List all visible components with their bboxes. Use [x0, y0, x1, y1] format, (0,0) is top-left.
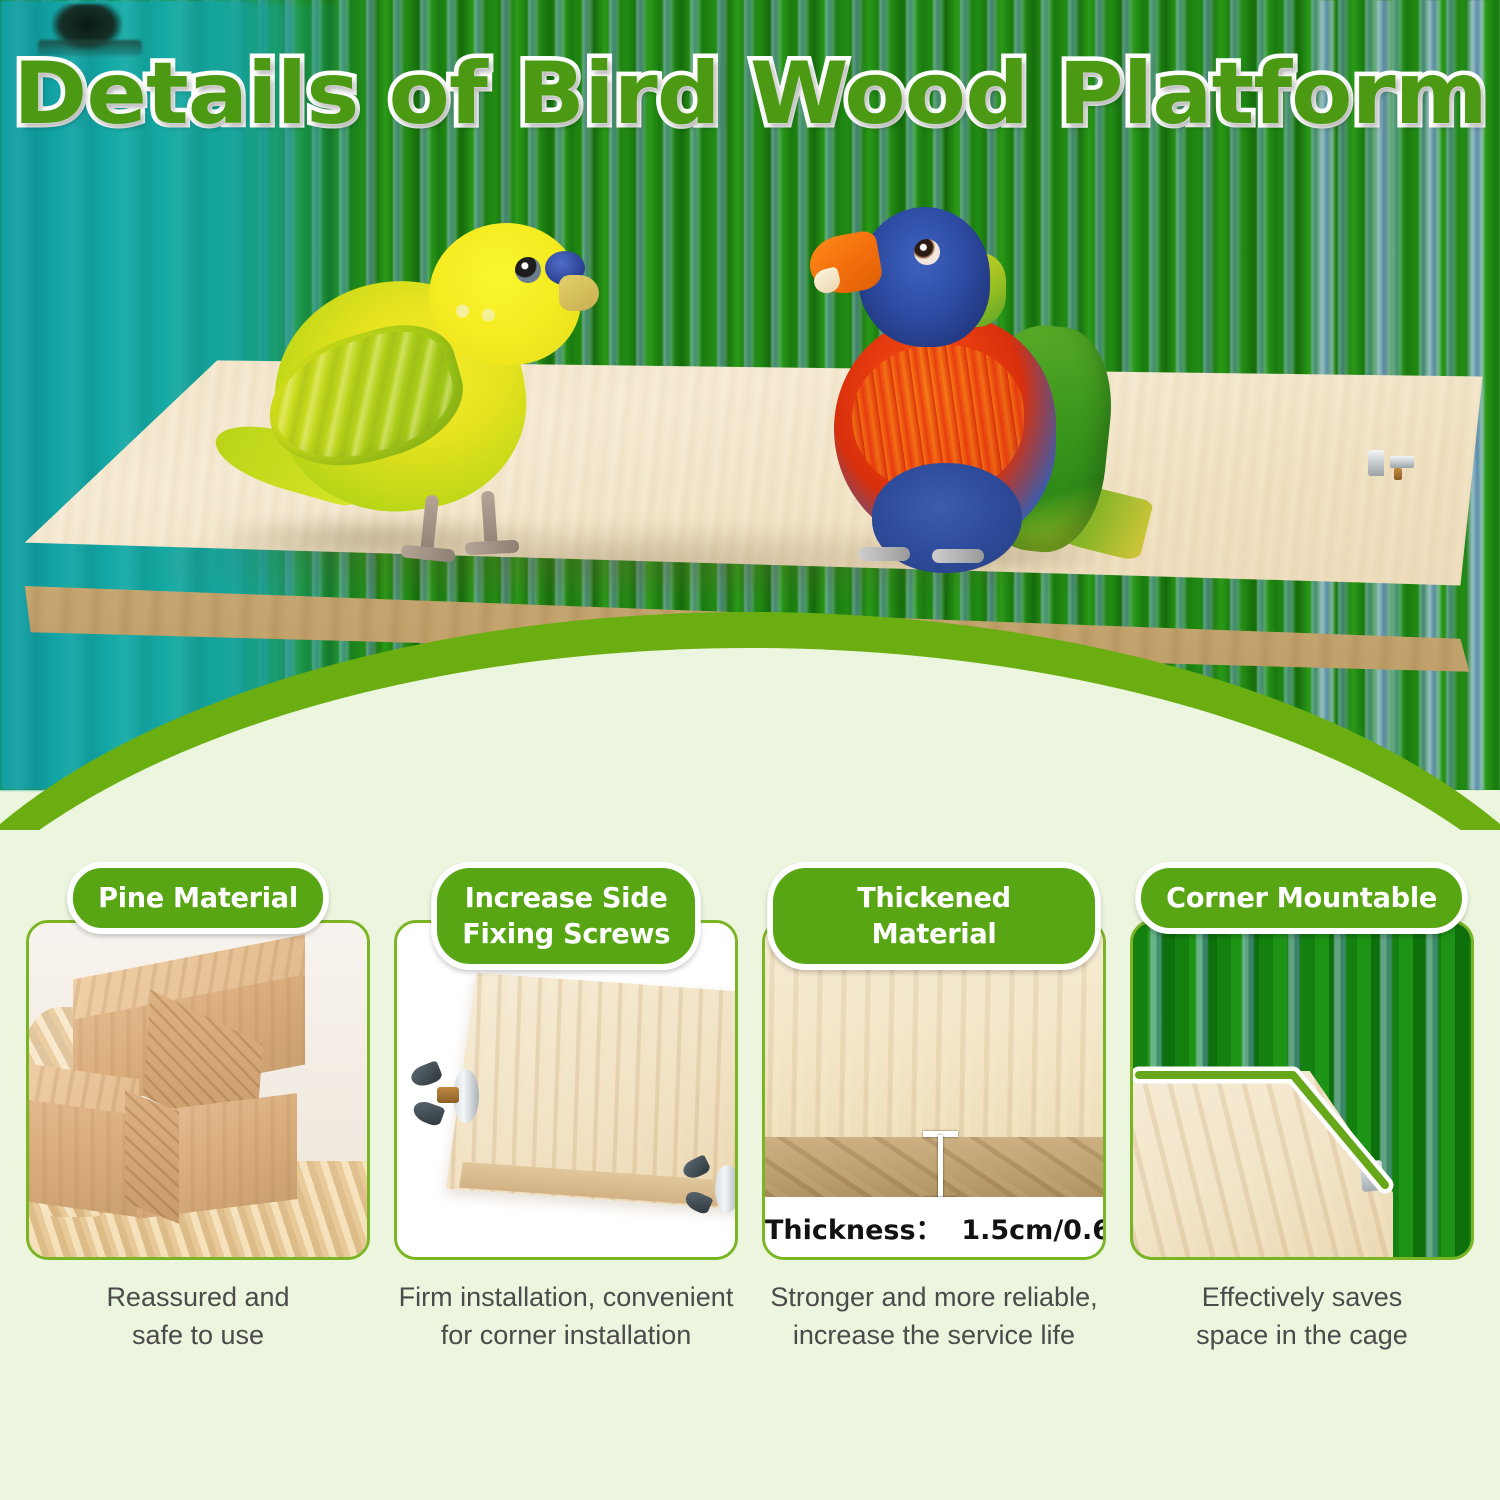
feature-card-media-frame: [1130, 920, 1474, 1260]
corner-mounting-screw: [1359, 1160, 1384, 1192]
screw-hub: [437, 1087, 459, 1103]
feature-pill-wrap: Corner Mountable: [1130, 862, 1474, 934]
pine-blocks-image: [29, 923, 367, 1257]
thickness-spec-label: Thickness：: [765, 1215, 943, 1246]
thickness-caption-strip: Thickness： 1.5cm/0.6in: [765, 1197, 1103, 1257]
product-infographic: Details of Bird Wood Platform Pin: [0, 0, 1500, 1500]
feature-card-increase-side-fixing-screws: Increase Side Fixing Screws Firm install…: [394, 862, 738, 1500]
feature-caption: Firm installation, convenient for corner…: [394, 1278, 738, 1354]
dimension-bar: [938, 1135, 943, 1199]
lorikeet-eye: [914, 239, 940, 265]
wing-nut-blade: [408, 1060, 443, 1090]
feature-caption: Reassured and safe to use: [26, 1278, 370, 1354]
feature-card-media-frame: [394, 920, 738, 1260]
budgie-eye: [515, 257, 541, 283]
feature-label: Corner Mountable: [1136, 862, 1469, 934]
feature-pill-wrap: Thickened Material: [762, 862, 1106, 970]
feature-card-media-frame: [26, 920, 370, 1260]
lorikeet-foot: [932, 549, 984, 563]
bird-budgerigar: [215, 195, 645, 595]
feature-pill-wrap: Pine Material: [26, 862, 370, 934]
wing-nut-blade: [680, 1154, 711, 1182]
feature-caption: Effectively saves space in the cage: [1130, 1278, 1474, 1354]
page-title: Details of Bird Wood Platform: [0, 46, 1500, 142]
mounting-screw: [1368, 448, 1414, 478]
bird-rainbow-lorikeet: [800, 195, 1140, 585]
budgie-cheek-dots: [443, 291, 521, 331]
budgie-beak: [559, 275, 599, 311]
wing-nut-blade: [682, 1188, 713, 1215]
budgie-shadow: [225, 513, 555, 561]
pine-block-end-grain: [125, 1090, 179, 1224]
feature-card-media-frame: Thickness： 1.5cm/0.6in: [762, 920, 1106, 1260]
hero-section: Details of Bird Wood Platform: [0, 0, 1500, 830]
wing-nut-screw: [681, 1159, 738, 1215]
board-with-screws-image: [397, 923, 735, 1257]
thickness-detail-image: Thickness： 1.5cm/0.6in: [765, 923, 1103, 1257]
corner-mount-image: [1133, 923, 1471, 1257]
wing-nut-screw: [411, 1063, 479, 1127]
feature-card-list: Pine Material Reassured and safe to use: [0, 862, 1500, 1500]
feature-label: Increase Side Fixing Screws: [431, 862, 701, 970]
feature-card-thickened-material: Thickness： 1.5cm/0.6in Thickened Materia…: [762, 862, 1106, 1500]
screw-washer: [715, 1165, 738, 1213]
feature-pill-wrap: Increase Side Fixing Screws: [394, 862, 738, 970]
lorikeet-foot: [858, 547, 910, 561]
thickness-spec-value: 1.5cm/0.6in: [961, 1215, 1106, 1246]
feature-card-pine-material: Pine Material Reassured and safe to use: [26, 862, 370, 1500]
feature-caption: Stronger and more reliable, increase the…: [762, 1278, 1106, 1354]
feature-label: Thickened Material: [767, 862, 1101, 970]
thickness-dimension-marker: [923, 1129, 957, 1205]
feature-card-corner-mountable: Corner Mountable Effectively saves space…: [1130, 862, 1474, 1500]
thickness-spec: Thickness： 1.5cm/0.6in: [765, 1208, 1103, 1247]
feature-label: Pine Material: [67, 862, 329, 934]
